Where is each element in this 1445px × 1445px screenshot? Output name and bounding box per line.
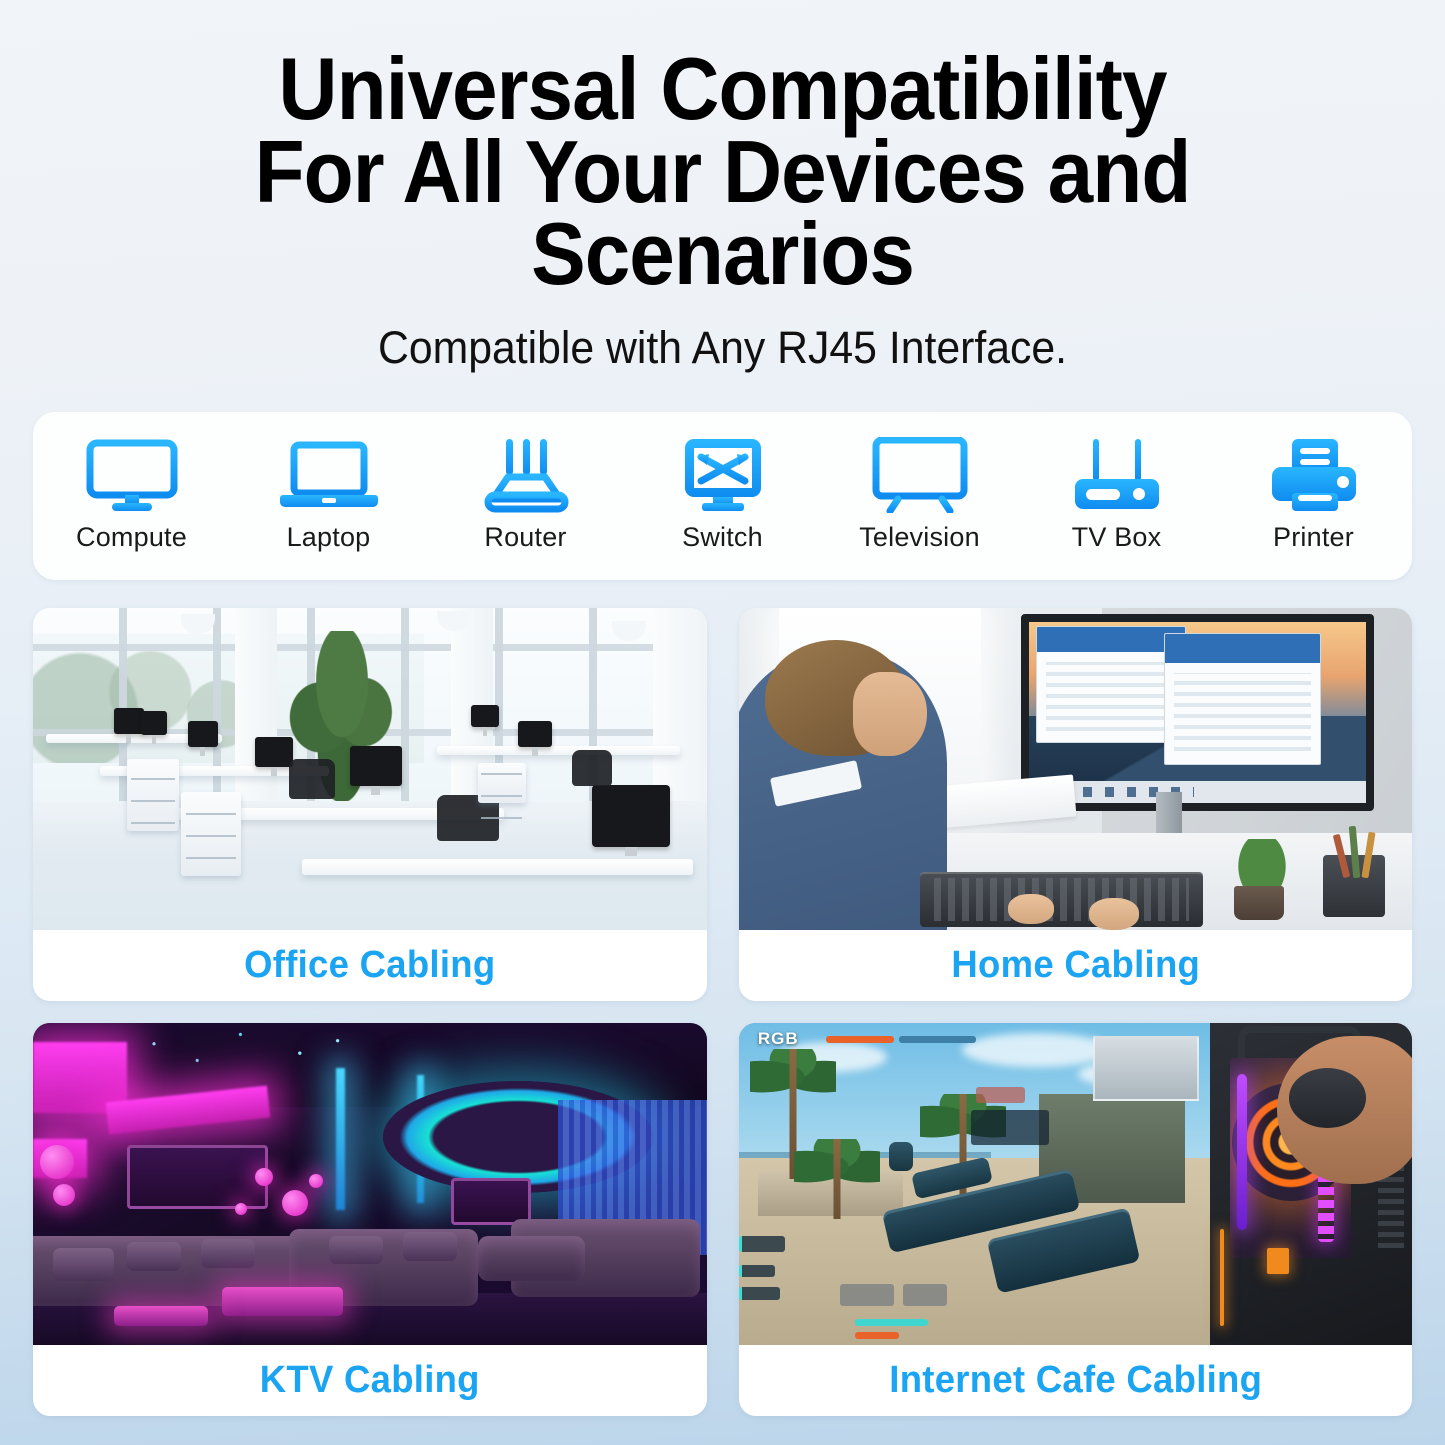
printer-icon [1266, 439, 1362, 513]
laptop-icon [279, 439, 379, 513]
scenario-card-grid: Office Cabling [33, 608, 1412, 1416]
device-item-compute: Compute [46, 439, 218, 553]
scenario-caption: Home Cabling [752, 930, 1399, 1001]
tv-box-icon [1069, 439, 1165, 513]
switch-icon [675, 439, 771, 513]
scenario-card-internet-cafe[interactable]: RGB [739, 1023, 1413, 1416]
device-label: Compute [76, 522, 187, 553]
television-icon [870, 439, 970, 513]
home-photo [739, 608, 1413, 930]
device-item-tv-box: TV Box [1031, 439, 1203, 553]
internet-cafe-photo: RGB [739, 1023, 1413, 1345]
page-title: Universal Compatibility For All Your Dev… [116, 48, 1330, 296]
scenario-caption: KTV Cabling [46, 1345, 693, 1416]
device-item-laptop: Laptop [243, 439, 415, 553]
scenario-card-office[interactable]: Office Cabling [33, 608, 707, 1001]
scenario-card-home[interactable]: Home Cabling [739, 608, 1413, 1001]
device-label: Switch [682, 522, 763, 553]
game-hud-rgb-label: RGB [758, 1029, 799, 1049]
monitor-icon [84, 439, 180, 513]
device-label: Printer [1273, 522, 1354, 553]
device-item-television: Television [834, 439, 1006, 553]
device-label: TV Box [1072, 522, 1162, 553]
header-block: Universal Compatibility For All Your Dev… [0, 0, 1445, 374]
scenario-card-ktv[interactable]: KTV Cabling [33, 1023, 707, 1416]
router-icon [478, 439, 574, 513]
scenario-caption: Office Cabling [46, 930, 693, 1001]
page-subtitle: Compatible with Any RJ45 Interface. [103, 322, 1343, 374]
device-item-switch: Switch [637, 439, 809, 553]
infographic-page: Universal Compatibility For All Your Dev… [0, 0, 1445, 1445]
scenario-caption: Internet Cafe Cabling [752, 1345, 1399, 1416]
device-item-printer: Printer [1228, 439, 1400, 553]
office-photo [33, 608, 707, 930]
device-label: Television [859, 522, 980, 553]
device-compatibility-strip: Compute Laptop [33, 412, 1412, 580]
device-item-router: Router [440, 439, 612, 553]
device-label: Router [484, 522, 566, 553]
device-label: Laptop [287, 522, 371, 553]
ktv-photo [33, 1023, 707, 1345]
